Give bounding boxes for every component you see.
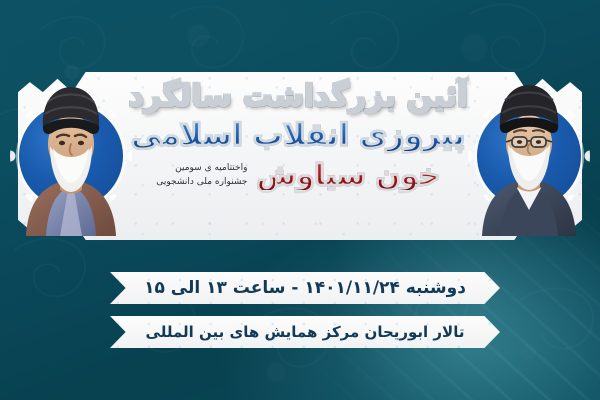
event-venue-text: تالار ابوریحان مرکز همایش های بین المللی: [146, 323, 465, 341]
portrait-ayatollah-khamenei: [470, 70, 588, 236]
event-datetime-text: دوشنبه ۱۴۰۱/۱۱/۲۴ - ساعت ۱۳ الی ۱۵: [144, 278, 466, 298]
ayatollah-khamenei-figure: [470, 70, 588, 236]
headline-line-1: آئین بزرگداشت سالگرد: [118, 82, 478, 112]
headline-text-block: آئین بزرگداشت سالگرد پیروزی انقلاب اسلام…: [118, 78, 478, 234]
headline-festival-name: خون سیاوش: [256, 161, 439, 190]
headline-subtitle-block: واختتامیه ی سومین جشنواره ملی دانشجویی: [156, 162, 247, 188]
portrait-imam-khomeini: [12, 70, 130, 236]
headline-subtitle-line-1: واختتامیه ی سومین: [156, 162, 247, 175]
headline-subtitle-line-2: جشنواره ملی دانشجویی: [156, 176, 247, 189]
event-venue-ribbon: تالار ابوریحان مرکز همایش های بین المللی: [110, 316, 500, 348]
imam-khomeini-figure: [12, 70, 130, 236]
event-poster: آئین بزرگداشت سالگرد پیروزی انقلاب اسلام…: [0, 0, 600, 400]
headline-line-2: پیروزی انقلاب اسلامی: [118, 121, 478, 151]
headline-row-3: خون سیاوش واختتامیه ی سومین جشنواره ملی …: [118, 161, 478, 190]
event-datetime-ribbon: دوشنبه ۱۴۰۱/۱۱/۲۴ - ساعت ۱۳ الی ۱۵: [110, 272, 500, 304]
